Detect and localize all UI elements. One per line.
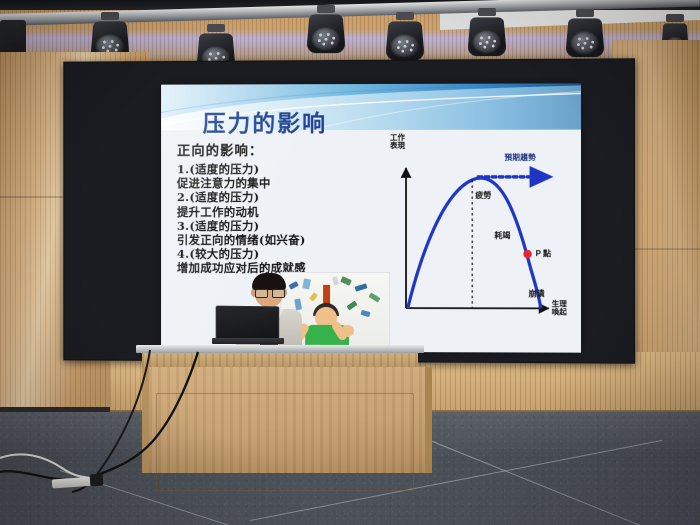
annotation-collapse: 崩潰 (529, 288, 545, 299)
annotation-expected-trend: 預期趨勢 (504, 152, 536, 163)
list-item: 3.(适度的压力) (177, 219, 391, 233)
power-plug (90, 474, 104, 487)
list-item: 促进注意力的集中 (177, 176, 391, 190)
y-axis-label: 工作表現 (390, 134, 410, 151)
lecture-hall-photo: 压力的影响 正向的影响： 1.(适度的压力) 促进注意力的集中 2.(适度的压力… (0, 0, 700, 525)
slide-bullet-list: 正向的影响： 1.(适度的压力) 促进注意力的集中 2.(适度的压力) 提升工作… (177, 139, 391, 276)
stress-performance-chart: 工作表現 生理喚起 預期趨勢 疲勞 耗竭 P 點 崩潰 (388, 136, 579, 342)
chart-svg (388, 136, 579, 342)
x-axis-label: 生理喚起 (552, 300, 570, 317)
list-item: 引发正向的情绪(如兴奋) (177, 233, 391, 247)
list-item: 提升工作的动机 (177, 205, 391, 219)
p-point-marker (523, 250, 531, 258)
annotation-fatigue: 疲勞 (475, 190, 491, 201)
section-heading: 正向的影响： (177, 139, 391, 159)
stage-par-light (565, 9, 605, 61)
glasses-icon (255, 289, 268, 298)
list-item: 2.(适度的压力) (177, 190, 391, 204)
stage-par-light (467, 8, 507, 60)
list-item: 1.(适度的压力) (177, 162, 391, 176)
list-item: 4.(较大的压力) (177, 247, 391, 261)
annotation-exhaustion: 耗竭 (494, 230, 510, 241)
stage-par-light (306, 5, 346, 57)
annotation-p-point: P 點 (536, 248, 552, 259)
page-title: 压力的影响 (203, 104, 327, 138)
stage-par-light (385, 12, 425, 64)
floor-cables (0, 330, 300, 525)
glasses-icon (272, 289, 285, 298)
